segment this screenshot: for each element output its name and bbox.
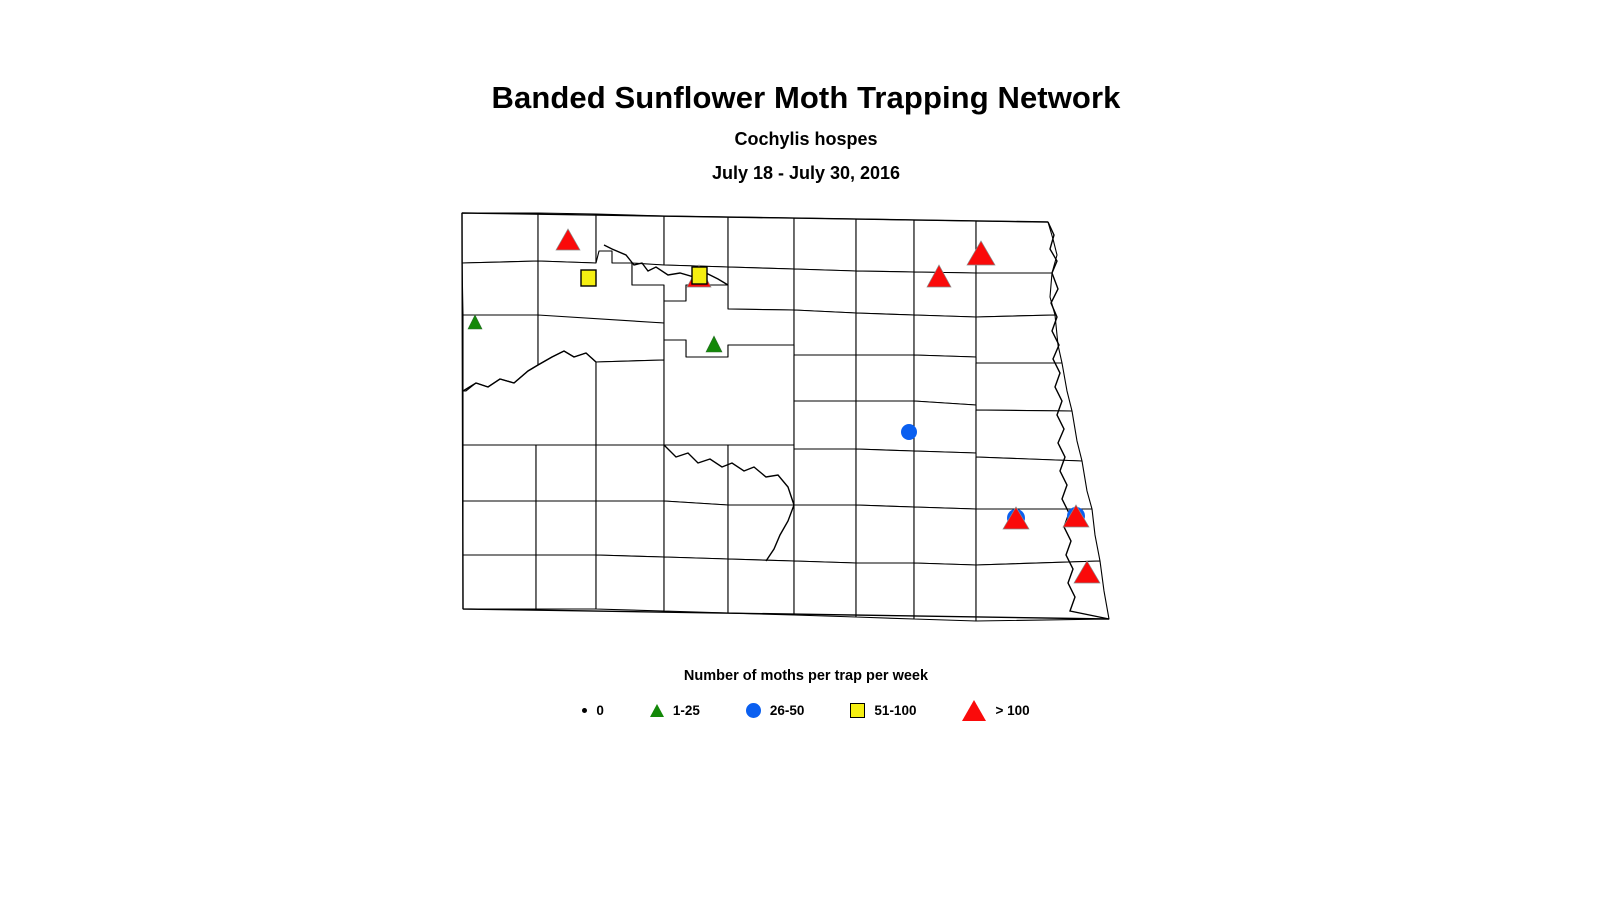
marker-yellow-square[interactable] [581,270,596,286]
legend-label: > 100 [995,703,1029,718]
legend-title: Number of moths per trap per week [0,668,1612,684]
county-polygons [462,213,1109,621]
legend-item-2[interactable]: 26-50 [746,703,805,718]
blue-circle-icon [746,703,761,718]
title-block: Banded Sunflower Moth Trapping Network C… [0,0,1612,184]
legend-label: 1-25 [673,703,700,718]
legend-label: 26-50 [770,703,805,718]
legend: 0 1-25 26-50 51-100 > 100 [0,700,1612,721]
map-container [0,205,1612,655]
species-subtitle: Cochylis hospes [0,129,1612,150]
legend-item-0[interactable]: 0 [582,703,604,718]
page-title: Banded Sunflower Moth Trapping Network [0,82,1612,115]
legend-label: 0 [596,703,604,718]
green-triangle-icon [650,704,664,717]
marker-blue-circle[interactable] [901,424,917,440]
date-range-subtitle: July 18 - July 30, 2016 [0,163,1612,184]
small-black-dot-icon [582,708,587,713]
red-triangle-icon [962,700,986,721]
marker-yellow-square[interactable] [692,267,707,284]
legend-item-1[interactable]: 1-25 [650,703,700,718]
north-dakota-county-map [436,205,1176,645]
legend-label: 51-100 [874,703,916,718]
legend-item-4[interactable]: > 100 [962,700,1029,721]
legend-item-3[interactable]: 51-100 [850,703,916,718]
map-page: Banded Sunflower Moth Trapping Network C… [0,0,1612,900]
yellow-square-icon [850,703,865,718]
